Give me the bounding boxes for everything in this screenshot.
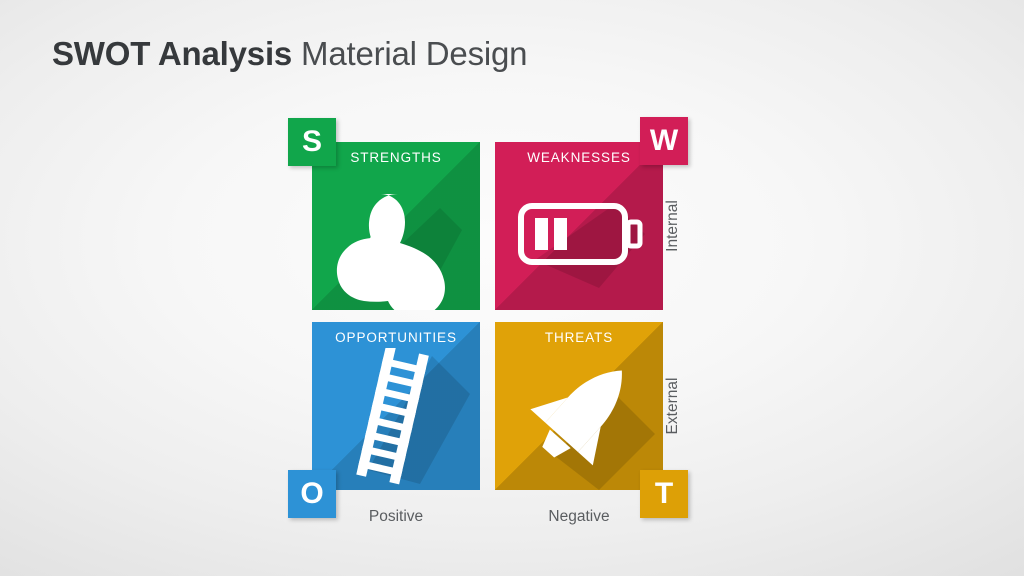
quadrant-label-weaknesses: WEAKNESSES [495,150,663,165]
quadrant-weaknesses[interactable]: WEAKNESSES [495,142,663,310]
axis-label-positive: Positive [312,508,480,526]
low-battery-icon [495,168,663,310]
axis-label-external: External [664,346,682,466]
quadrant-label-strengths: STRENGTHS [312,150,480,165]
page-title-light: Material Design [292,35,527,72]
quadrant-opportunities[interactable]: OPPORTUNITIES [312,322,480,490]
badge-s[interactable]: S [288,118,336,166]
quadrant-label-threats: THREATS [495,330,663,345]
page-title: SWOT Analysis Material Design [52,33,527,75]
axis-label-negative: Negative [495,508,663,526]
swot-slide: SWOT Analysis Material Design STRENGTHS … [0,0,1024,576]
page-title-bold: SWOT Analysis [52,35,292,72]
badge-w[interactable]: W [640,117,688,165]
axis-label-internal: Internal [664,166,682,286]
quadrant-strengths[interactable]: STRENGTHS [312,142,480,310]
quadrant-label-opportunities: OPPORTUNITIES [312,330,480,345]
flexed-bicep-icon [312,168,480,310]
quadrant-threats[interactable]: THREATS [495,322,663,490]
badge-o[interactable]: O [288,470,336,518]
rocket-icon [495,348,663,490]
badge-t[interactable]: T [640,470,688,518]
ladder-icon [312,348,480,490]
